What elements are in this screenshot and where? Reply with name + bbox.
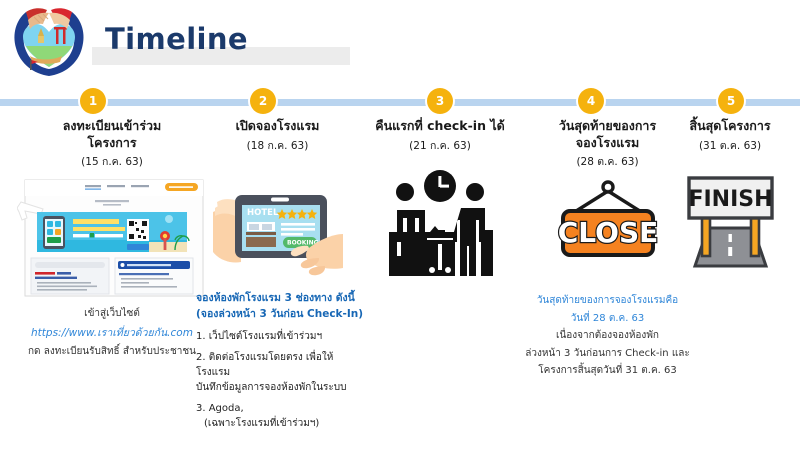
booking-channel-3: 3. Agoda, <box>196 401 365 416</box>
step-4-body: วันสุดท้ายของการจองโรงแรมคือ วันที่ 28 ต… <box>515 292 700 380</box>
step-5-heading: สิ้นสุดโครงการ <box>660 118 800 135</box>
timeline-step-2: เปิดจองโรงแรม (18 ก.ค. 63) HOTEL <box>190 118 365 431</box>
step-1-date: (15 ก.ค. 63) <box>8 153 216 170</box>
step-5-date: (31 ต.ค. 63) <box>660 137 800 154</box>
last-booking-day-line-3: เนื่องจากต้องจองห้องพัก <box>515 327 700 345</box>
booking-channel-1: 1. เว็ปไซต์โรงแรมที่เข้าร่วมฯ <box>196 329 365 344</box>
finish-sign-label: FINISH <box>688 187 772 212</box>
tablet-booking-icon: HOTEL BOOKING <box>213 182 343 282</box>
finish-line-icon: FINISH <box>673 170 788 270</box>
timeline-marker-5[interactable]: 5 <box>718 88 744 114</box>
thai-tourism-heart-logo <box>10 4 88 80</box>
last-booking-day-line-5: โครงการสิ้นสุดวันที่ 31 ต.ค. 63 <box>515 362 700 380</box>
timeline-rail <box>0 99 800 106</box>
step-1-body: เข้าสู่เว็บไซต์ https://www.เราเที่ยวด้ว… <box>8 306 216 359</box>
timeline-step-3: คืนแรกที่ check-in ได้ (21 ก.ค. 63) <box>355 118 525 280</box>
step-3-artwork <box>355 168 525 280</box>
page-title: Timeline <box>105 22 248 56</box>
booking-channels-heading: จองห้องพักโรงแรม 3 ช่องทาง ดังนี้ <box>196 290 365 307</box>
step-2-artwork: HOTEL BOOKING <box>190 182 365 282</box>
last-booking-day-line-1: วันสุดท้ายของการจองโรงแรมคือ <box>515 292 700 310</box>
timeline-step-1: ลงทะเบียนเข้าร่วม โครงการ (15 ก.ค. 63) <box>8 118 216 359</box>
hotel-checkin-icon <box>385 168 495 280</box>
last-booking-day-line-4: ล่วงหน้า 3 วันก่อนการ Check-in และ <box>515 345 700 363</box>
timeline-step-5: สิ้นสุดโครงการ (31 ต.ค. 63) FINISH <box>660 118 800 270</box>
booking-advance-note: (จองล่วงหน้า 3 วันก่อน Check-In) <box>196 306 365 323</box>
booking-channel-2b: บันทึกข้อมูลการจองห้องพักในระบบ <box>196 380 365 395</box>
last-booking-day-line-2: วันที่ 28 ต.ค. 63 <box>515 310 700 328</box>
step-2-date: (18 ก.ค. 63) <box>190 137 365 154</box>
step-3-date: (21 ก.ค. 63) <box>355 137 525 154</box>
timeline-slide: Timeline 1 2 3 4 5 ลงทะเบียนเข้าร่วม โคร… <box>0 0 800 451</box>
step-3-heading: คืนแรกที่ check-in ได้ <box>355 118 525 135</box>
step-2-body: จองห้องพักโรงแรม 3 ช่องทาง ดังนี้ (จองล่… <box>190 290 365 432</box>
website-url-link[interactable]: https://www.เราเที่ยวด้วยกัน.com <box>8 325 216 341</box>
timeline-marker-3[interactable]: 3 <box>427 88 453 114</box>
enter-website-label: เข้าสู่เว็บไซต์ <box>8 306 216 322</box>
website-screenshot <box>17 178 207 298</box>
step-2-heading: เปิดจองโรงแรม <box>190 118 365 135</box>
timeline-marker-1[interactable]: 1 <box>80 88 106 114</box>
close-sign-label: CLOSE <box>557 216 658 249</box>
step-5-artwork: FINISH <box>660 170 800 270</box>
timeline-marker-4[interactable]: 4 <box>578 88 604 114</box>
tablet-hotel-label: HOTEL <box>247 208 279 218</box>
step-1-heading: ลงทะเบียนเข้าร่วม โครงการ <box>8 118 216 151</box>
slide-header: Timeline <box>0 0 800 88</box>
booking-channel-2: 2. ติดต่อโรงแรมโดยตรง เพื่อให้โรงแรม <box>196 350 365 380</box>
register-note: กด ลงทะเบียนรับสิทธิ์ สำหรับประชาชน <box>8 344 216 360</box>
booking-channel-3b: (เฉพาะโรงแรมที่เข้าร่วมฯ) <box>196 416 365 431</box>
step-1-artwork <box>8 178 216 298</box>
timeline-marker-2[interactable]: 2 <box>250 88 276 114</box>
close-sign-icon: CLOSE <box>553 180 663 276</box>
